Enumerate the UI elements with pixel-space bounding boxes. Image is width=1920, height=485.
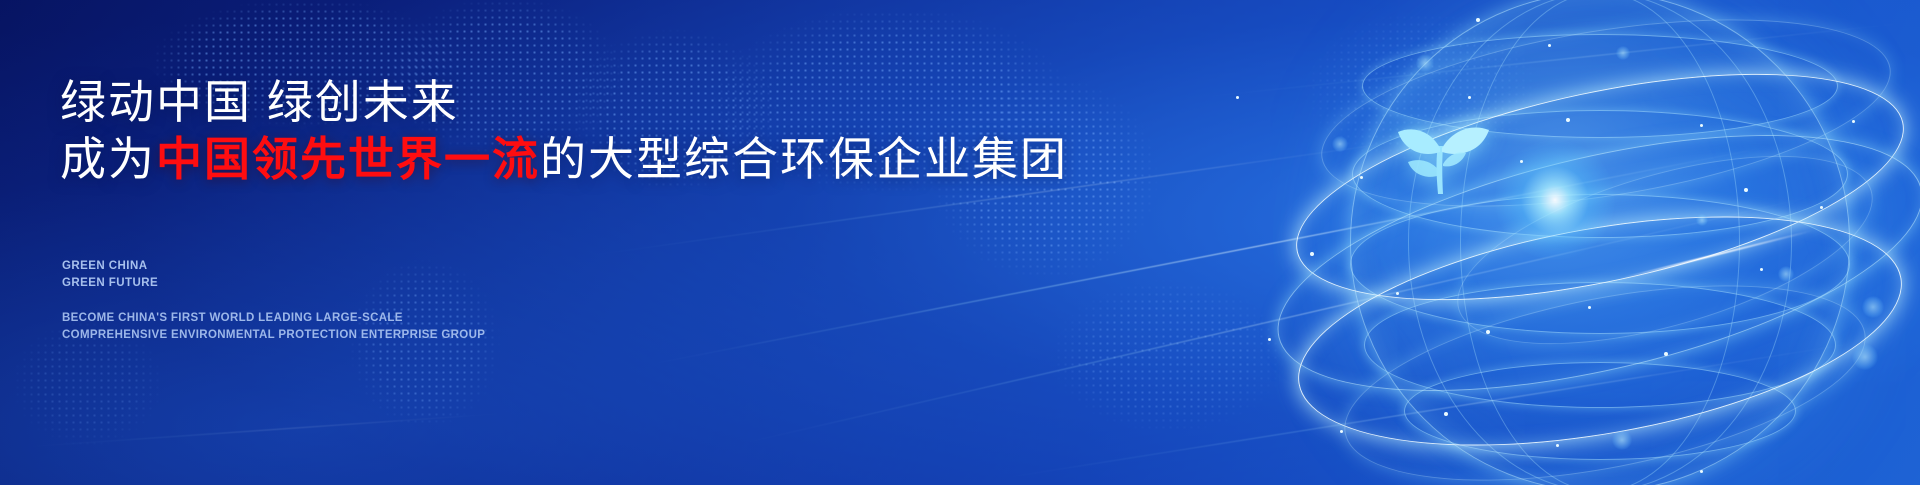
subtitle-line-2: GREEN FUTURE bbox=[62, 275, 158, 292]
tagline-line-2: COMPREHENSIVE ENVIRONMENTAL PROTECTION E… bbox=[62, 327, 485, 344]
headline-secondary: 成为中国领先世界一流的大型综合环保企业集团 bbox=[60, 136, 1068, 182]
sprout-leaf-icon bbox=[1386, 102, 1496, 198]
tagline-line-1: BECOME CHINA'S FIRST WORLD LEADING LARGE… bbox=[62, 310, 485, 327]
headline-highlight: 中国领先世界一流 bbox=[156, 133, 540, 185]
headline-prefix: 成为 bbox=[60, 133, 156, 185]
subtitle-line-1: GREEN CHINA bbox=[62, 258, 158, 275]
tagline-english: BECOME CHINA'S FIRST WORLD LEADING LARGE… bbox=[62, 310, 485, 343]
headline-primary: 绿动中国 绿创未来 bbox=[60, 79, 459, 125]
text-block: 绿动中国 绿创未来 成为中国领先世界一流的大型综合环保企业集团 GREEN CH… bbox=[60, 0, 1060, 485]
globe-center-glow bbox=[1495, 140, 1615, 260]
globe-graphic bbox=[1300, 0, 1900, 485]
hero-banner: 绿动中国 绿创未来 成为中国领先世界一流的大型综合环保企业集团 GREEN CH… bbox=[0, 0, 1920, 485]
headline-suffix: 的大型综合环保企业集团 bbox=[540, 133, 1068, 185]
subtitle-english: GREEN CHINA GREEN FUTURE bbox=[62, 258, 158, 291]
